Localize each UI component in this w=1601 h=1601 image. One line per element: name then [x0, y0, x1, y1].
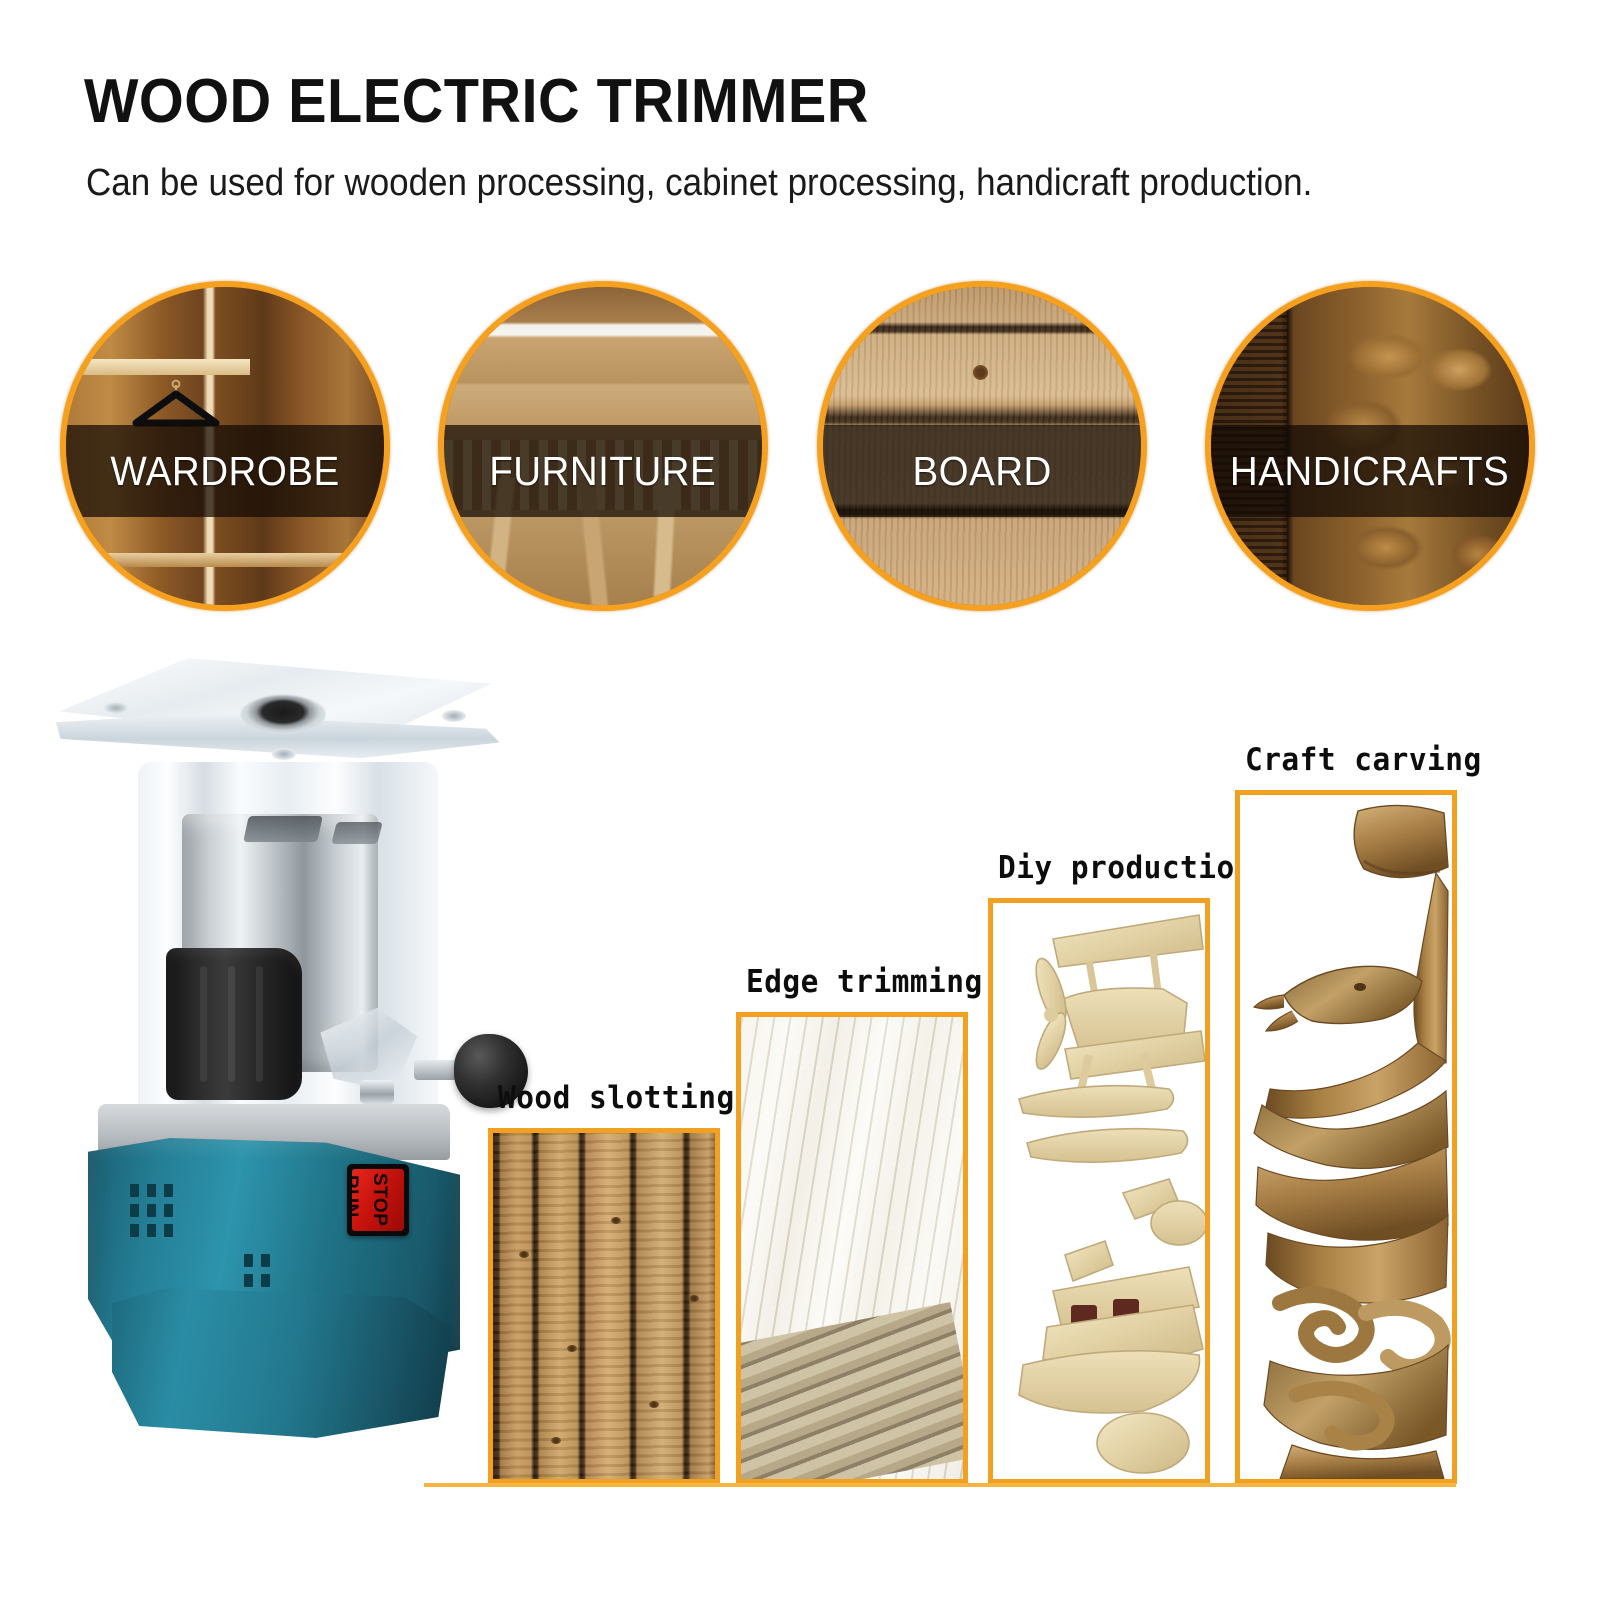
- application-panel-frame: [1235, 790, 1457, 1484]
- plate-screw: [272, 748, 296, 760]
- application-panel-frame: [988, 898, 1210, 1484]
- use-case-label-band: HANDICRAFTS: [1211, 425, 1529, 517]
- application-panel-frame: [736, 1012, 968, 1484]
- motor-housing: [138, 762, 438, 1122]
- clear-base-plate: [50, 658, 510, 778]
- use-case-circle-wardrobe: WARDROBE: [60, 281, 390, 611]
- switch-run-label: RUN: [352, 1175, 361, 1218]
- housing-vent: [331, 822, 382, 844]
- use-case-circle-furniture: FURNITURE: [438, 281, 768, 611]
- body-vent-grid: [244, 1254, 270, 1287]
- application-panel-diy-production: Diy production: [988, 898, 1210, 1484]
- application-panel-edge-trimming: Edge trimming: [736, 1012, 968, 1484]
- wood-knots: [493, 1133, 715, 1479]
- grip-rib: [200, 966, 207, 1082]
- plate-screw: [104, 702, 128, 714]
- product-feature-banner: WOOD ELECTRIC TRIMMER Can be used for wo…: [0, 0, 1601, 1601]
- application-panel-label: Diy production: [998, 850, 1253, 886]
- use-case-label-band: BOARD: [823, 425, 1141, 517]
- plate-screw: [442, 710, 466, 722]
- wooden-model-illustration: [993, 903, 1205, 1479]
- application-panel-label: Craft carving: [1245, 742, 1482, 778]
- body-vent-grid: [130, 1184, 173, 1237]
- use-case-circle-row: WARDROBE FURNITURE BOARD: [60, 281, 1547, 611]
- use-case-label: HANDICRAFTS: [1230, 448, 1509, 495]
- use-case-label: FURNITURE: [490, 448, 717, 495]
- wood-knot: [973, 365, 988, 380]
- use-case-circle-board: BOARD: [817, 281, 1147, 611]
- product-image-trimmer: [26, 652, 526, 1492]
- run-stop-switch[interactable]: RUN STOP: [347, 1164, 409, 1236]
- use-case-label-band: WARDROBE: [66, 425, 384, 517]
- carved-sculpture-image: [1240, 795, 1452, 1479]
- page-subtitle: Can be used for wooden processing, cabin…: [86, 162, 1312, 205]
- clamp-bolt: [360, 1080, 394, 1104]
- application-panel-craft-carving: Craft carving: [1235, 790, 1457, 1484]
- wood-sculpture-illustration: [1240, 795, 1452, 1479]
- vertical-logs-image: [493, 1133, 715, 1479]
- switch-stop-label: STOP: [368, 1173, 390, 1226]
- use-case-label: BOARD: [912, 448, 1051, 495]
- grip-rib: [256, 966, 263, 1082]
- application-panel-label: Wood slotting: [498, 1080, 735, 1116]
- baseline-divider: [424, 1483, 1456, 1487]
- application-panel-frame: [488, 1128, 720, 1484]
- switch-face: RUN STOP: [352, 1169, 404, 1231]
- grip-rib: [228, 966, 235, 1082]
- collet-opening: [240, 694, 326, 734]
- housing-vent: [243, 816, 323, 842]
- application-panel-label: Edge trimming: [746, 964, 983, 1000]
- tool-body-lower: [112, 1288, 452, 1438]
- use-case-circle-handicrafts: HANDICRAFTS: [1205, 281, 1535, 611]
- rubber-grip: [166, 948, 302, 1100]
- balsa-model-plane-image: [993, 903, 1205, 1479]
- application-panel-wood-slotting: Wood slotting: [488, 1128, 720, 1484]
- use-case-label-band: FURNITURE: [444, 425, 762, 517]
- page-title: WOOD ELECTRIC TRIMMER: [84, 66, 869, 137]
- plywood-stack-image: [741, 1017, 963, 1479]
- use-case-label: WARDROBE: [110, 448, 339, 495]
